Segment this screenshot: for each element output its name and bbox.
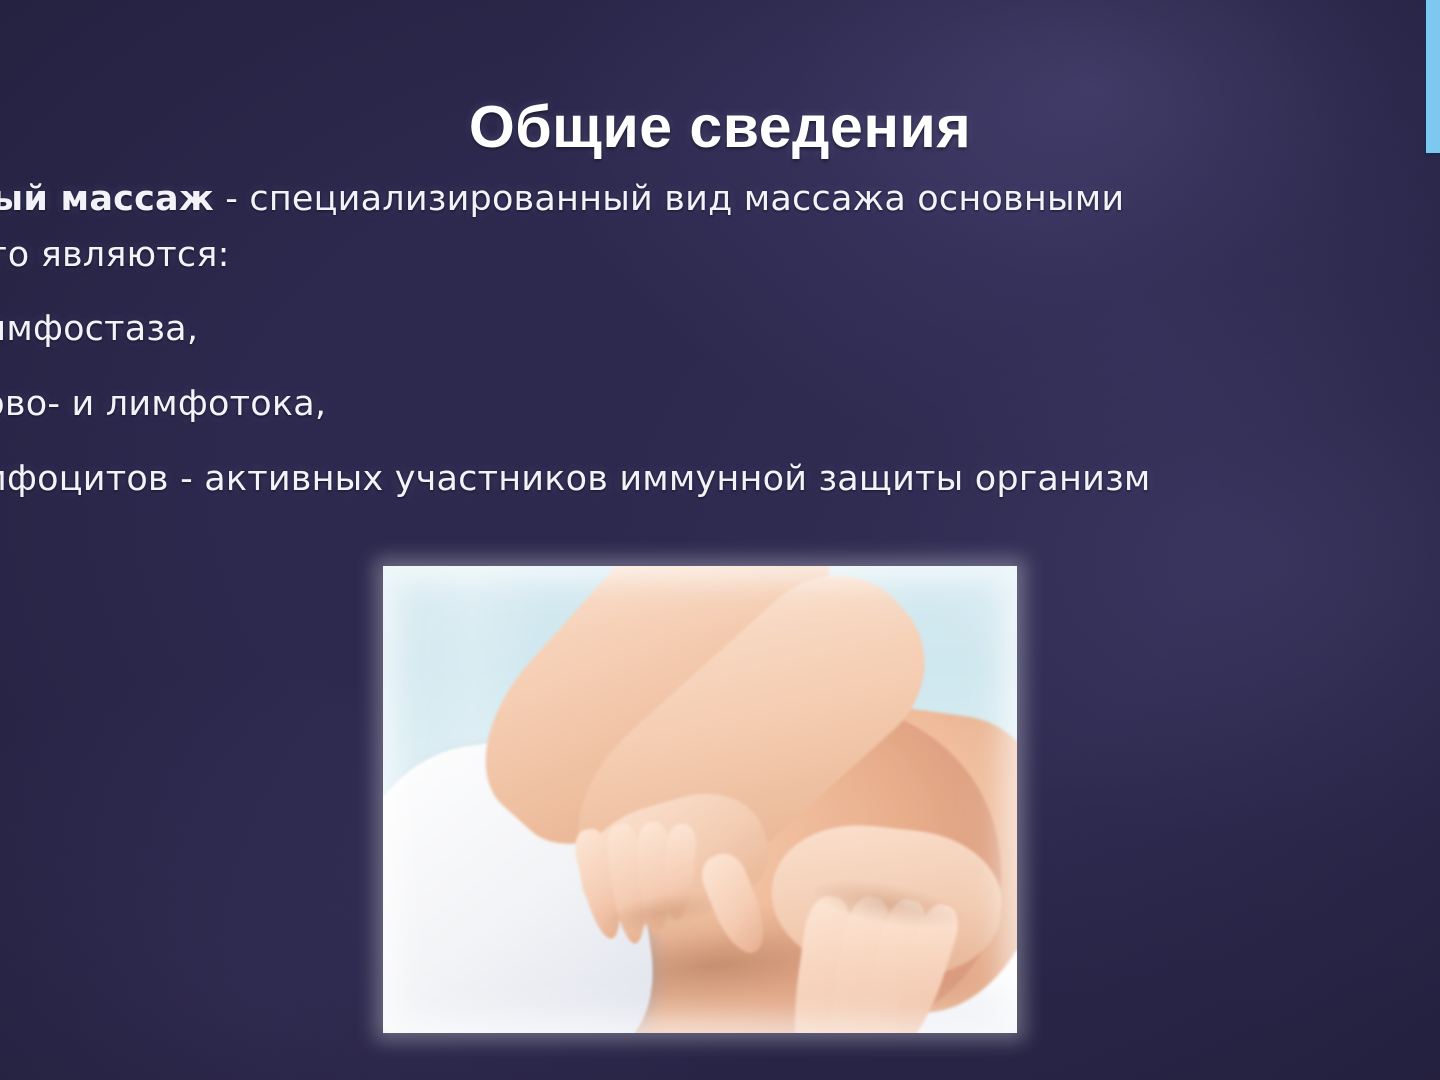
photo-soften-overlay: [383, 566, 1017, 1033]
page-title: Общие сведения: [0, 98, 1440, 157]
massage-photo: [383, 566, 1017, 1033]
body-line-1-rest: - специализированный вид массажа основны…: [214, 179, 1124, 219]
body-line-1: енажный массаж - специализированный вид …: [0, 182, 1124, 217]
body-line-4: ция крово- и лимфотока,: [0, 387, 326, 422]
body-line-3: ение лимфостаза,: [0, 312, 198, 347]
body-lead-term: енажный массаж: [0, 179, 214, 219]
body-line-2: которого являются:: [0, 238, 230, 273]
presentation-slide: Общие сведения енажный массаж - специали…: [0, 0, 1440, 1080]
body-line-5: тка лимфоцитов - активных участников имм…: [0, 462, 1151, 497]
